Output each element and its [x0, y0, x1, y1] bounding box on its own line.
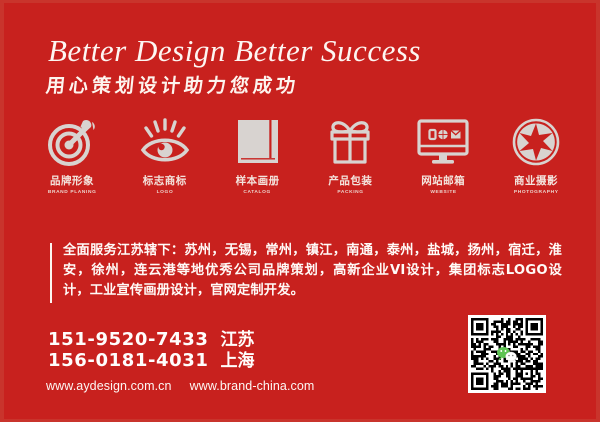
website-link-primary[interactable]: www.aydesign.com.cn	[46, 379, 172, 393]
service-label-en: PACKING	[337, 189, 363, 194]
service-label-en: PHOTOGRAPHY	[514, 189, 559, 194]
phone-row[interactable]: 151-9520-7433 江苏	[48, 329, 255, 350]
service-description-block: 全面服务江苏辖下：苏州，无锡，常州，镇江，南通，泰州，盐城，扬州，宿迁，淮安，徐…	[50, 241, 562, 301]
eye-icon	[138, 115, 192, 169]
phone-number[interactable]: 156-0181-4031	[48, 350, 209, 371]
service-label-cn: 标志商标	[143, 176, 187, 187]
wechat-qr-code[interactable]	[468, 315, 546, 393]
service-label-en: LOGO	[156, 189, 173, 194]
phone-region: 上海	[221, 351, 255, 372]
services-row: 品牌形象 BRAND PLANING	[26, 115, 582, 207]
poster-red-field: Better Design Better Success 用心策划设计助力您成功	[4, 3, 596, 419]
service-label-cn: 网站邮箱	[421, 176, 465, 187]
target-dart-icon	[45, 115, 99, 169]
monitor-icon	[416, 115, 470, 169]
phone-row[interactable]: 156-0181-4031 上海	[48, 350, 255, 371]
service-item-website: 网站邮箱 WEBSITE	[397, 115, 489, 194]
page-title: Better Design Better Success	[48, 35, 421, 66]
page-subtitle: 用心策划设计助力您成功	[45, 77, 300, 96]
accent-rule	[50, 243, 52, 303]
service-item-packing: 产品包装 PACKING	[304, 115, 396, 194]
service-label-cn: 产品包装	[328, 176, 372, 187]
service-label-cn: 样本画册	[236, 176, 280, 187]
camera-shutter-icon	[509, 115, 563, 169]
service-label-cn: 品牌形象	[50, 176, 94, 187]
service-label-cn: 商业摄影	[514, 176, 558, 187]
service-description-text: 全面服务江苏辖下：苏州，无锡，常州，镇江，南通，泰州，盐城，扬州，宿迁，淮安，徐…	[63, 241, 562, 301]
phone-number[interactable]: 151-9520-7433	[48, 329, 209, 350]
website-link-secondary[interactable]: www.brand-china.com	[190, 379, 315, 393]
service-label-en: WEBSITE	[430, 189, 456, 194]
service-item-photography: 商业摄影 PHOTOGRAPHY	[490, 115, 582, 194]
phone-list: 151-9520-7433 江苏 156-0181-4031 上海	[48, 329, 255, 371]
service-item-brand: 品牌形象 BRAND PLANING	[26, 115, 118, 194]
qr-code-image	[471, 318, 543, 390]
phone-region: 江苏	[221, 330, 255, 351]
service-label-en: BRAND PLANING	[48, 189, 97, 194]
book-icon	[231, 115, 285, 169]
service-item-logo: 标志商标 LOGO	[119, 115, 211, 194]
service-label-en: CATALOG	[244, 189, 272, 194]
wechat-logo-icon	[496, 346, 518, 362]
poster: Better Design Better Success 用心策划设计助力您成功	[0, 0, 600, 422]
gift-box-icon	[323, 115, 377, 169]
service-item-catalog: 样本画册 CATALOG	[212, 115, 304, 194]
website-list: www.aydesign.com.cn www.brand-china.com	[46, 379, 314, 393]
